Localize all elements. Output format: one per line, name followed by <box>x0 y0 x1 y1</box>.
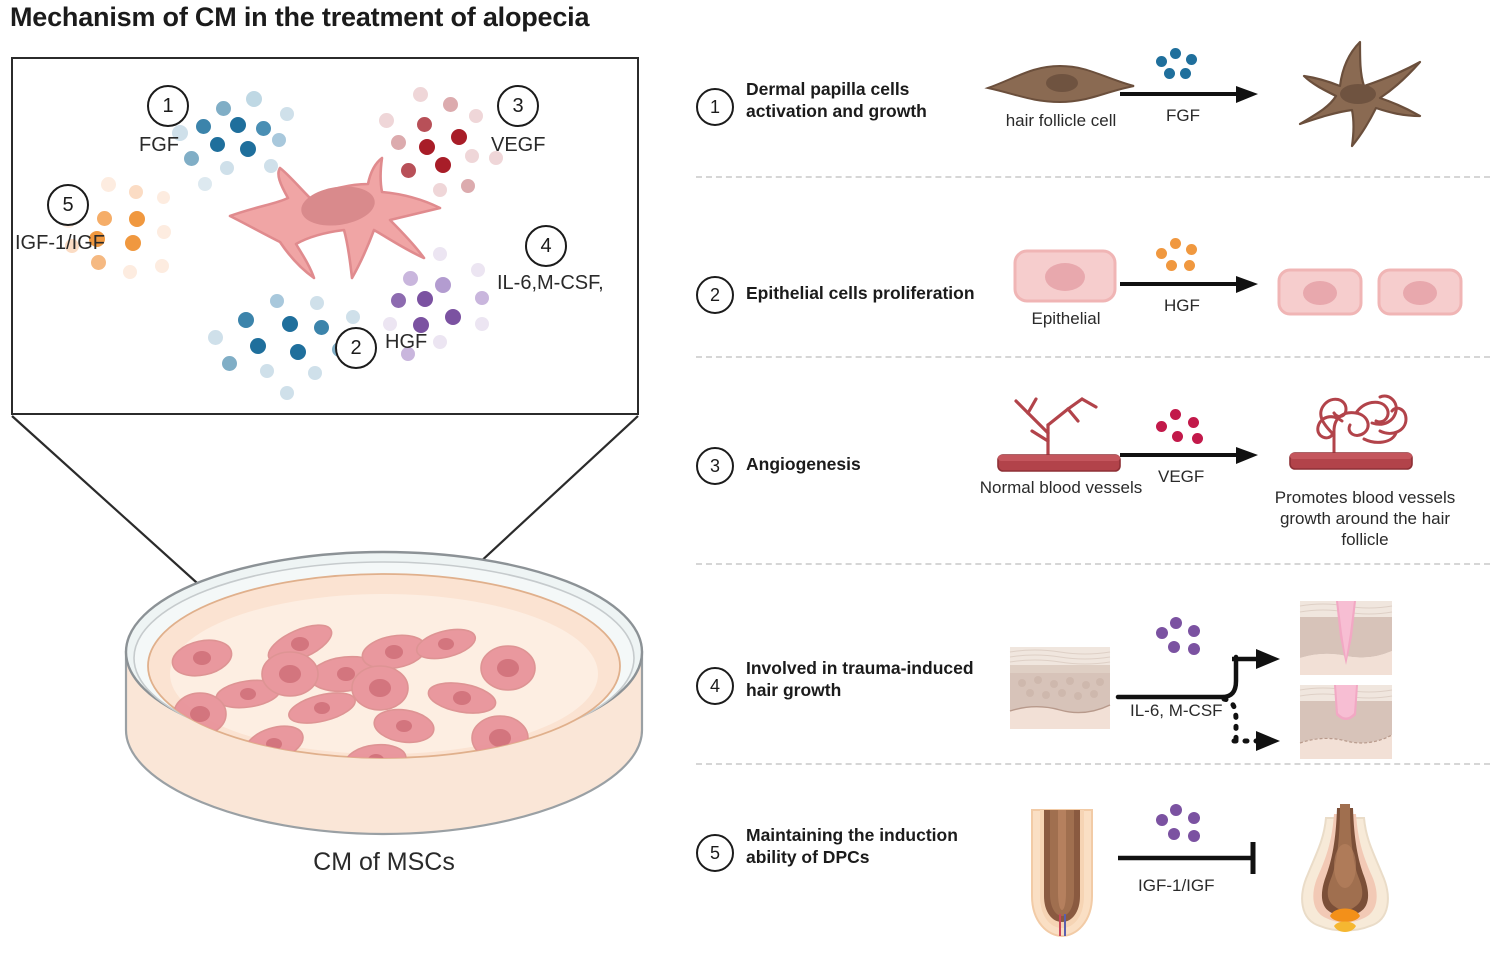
row-3-arrow <box>1120 447 1260 467</box>
box-marker-5-num: 5 <box>62 194 73 217</box>
deep-wound-skin-icon <box>1300 601 1392 675</box>
row-5-num: 5 <box>710 843 720 864</box>
row-2-source-caption: Epithelial <box>1010 308 1122 329</box>
row-4-branch-arrow <box>1118 635 1298 765</box>
row-2-factor-label: HGF <box>1164 296 1200 316</box>
row-3-source-caption: Normal blood vessels <box>976 477 1146 498</box>
hair-follicle-cell-icon <box>986 58 1136 106</box>
row-5-factor-label: IGF-1/IGF <box>1138 876 1215 896</box>
box-label-hgf: HGF <box>385 331 427 354</box>
row-3-result-caption: Promotes blood vessels growth around the… <box>1250 487 1480 550</box>
row-4-factor-label: IL-6, M-CSF <box>1130 701 1223 721</box>
box-label-vegf: VEGF <box>491 134 545 157</box>
box-marker-2: 2 <box>335 327 377 369</box>
row-3-separator <box>696 563 1490 565</box>
epithelial-cell-icon <box>1012 248 1118 304</box>
mechanism-row-2: 2 Epithelial cells proliferation Epithel… <box>690 216 1490 356</box>
row-5-title: Maintaining the induction ability of DPC… <box>746 824 1056 869</box>
row-1-arrow <box>1120 86 1260 106</box>
row-2-factor-dots <box>1156 238 1206 274</box>
box-label-fgf: FGF <box>139 134 179 157</box>
callout-box: 1 FGF 5 IGF-1/IGF 3 VEGF 4 IL-6,M-CSF, 2… <box>11 57 639 415</box>
row-2-num: 2 <box>710 285 720 306</box>
row-1-separator <box>696 176 1490 178</box>
box-marker-4: 4 <box>525 225 567 267</box>
angiogenic-blood-vessel-icon <box>1276 387 1436 479</box>
box-label-il6: IL-6,M-CSF, <box>497 272 604 295</box>
box-label-igf: IGF-1/IGF <box>15 232 105 255</box>
row-3-num: 3 <box>710 456 720 477</box>
mechanism-row-3: 3 Angiogenesis Normal blood vessels VEGF <box>690 395 1490 563</box>
particle-cluster-fgf <box>168 89 328 199</box>
resting-hair-follicle-icon <box>1020 810 1104 940</box>
row-1-marker: 1 <box>696 88 734 126</box>
row-3-factor-label: VEGF <box>1158 467 1204 487</box>
row-1-factor-label: FGF <box>1166 106 1200 126</box>
row-3-factor-dots <box>1156 409 1206 445</box>
row-4-num: 4 <box>710 676 720 697</box>
row-2-title: Epithelial cells proliferation <box>746 282 1046 304</box>
box-marker-5: 5 <box>47 184 89 226</box>
active-hair-follicle-bulb-icon <box>1290 804 1400 944</box>
row-1-factor-dots <box>1156 48 1206 84</box>
box-marker-1-num: 1 <box>162 95 173 118</box>
mechanism-row-1: 1 Dermal papilla cells activation and gr… <box>690 40 1490 176</box>
box-marker-1: 1 <box>147 85 189 127</box>
row-5-factor-dots <box>1156 804 1206 840</box>
row-1-num: 1 <box>710 97 720 118</box>
mechanism-row-4: 4 Involved in trauma-induced hair growth <box>690 595 1490 763</box>
box-marker-3-num: 3 <box>512 95 523 118</box>
skin-cross-section-icon <box>1010 647 1110 729</box>
row-2-marker: 2 <box>696 276 734 314</box>
row-4-marker: 4 <box>696 667 734 705</box>
row-4-separator <box>696 763 1490 765</box>
page-title: Mechanism of CM in the treatment of alop… <box>10 2 589 33</box>
mechanism-row-5: 5 Maintaining the induction ability of D… <box>690 790 1490 956</box>
mechanism-rows: 1 Dermal papilla cells activation and gr… <box>690 40 1490 916</box>
normal-blood-vessel-icon <box>986 395 1136 475</box>
shallow-wound-skin-icon <box>1300 685 1392 759</box>
row-1-source-caption: hair follicle cell <box>976 110 1146 131</box>
petri-dish-caption: CM of MSCs <box>108 848 660 877</box>
row-5-inhibition-arrow <box>1118 840 1268 876</box>
row-3-marker: 3 <box>696 447 734 485</box>
box-marker-2-num: 2 <box>350 337 361 360</box>
row-5-marker: 5 <box>696 834 734 872</box>
row-2-separator <box>696 356 1490 358</box>
activated-dermal-papilla-cell-icon <box>1286 40 1436 150</box>
row-2-arrow <box>1120 276 1260 296</box>
petri-dish-illustration <box>108 548 660 858</box>
box-marker-4-num: 4 <box>540 235 551 258</box>
proliferated-epithelial-cells-icon <box>1276 264 1466 320</box>
box-marker-3: 3 <box>497 85 539 127</box>
